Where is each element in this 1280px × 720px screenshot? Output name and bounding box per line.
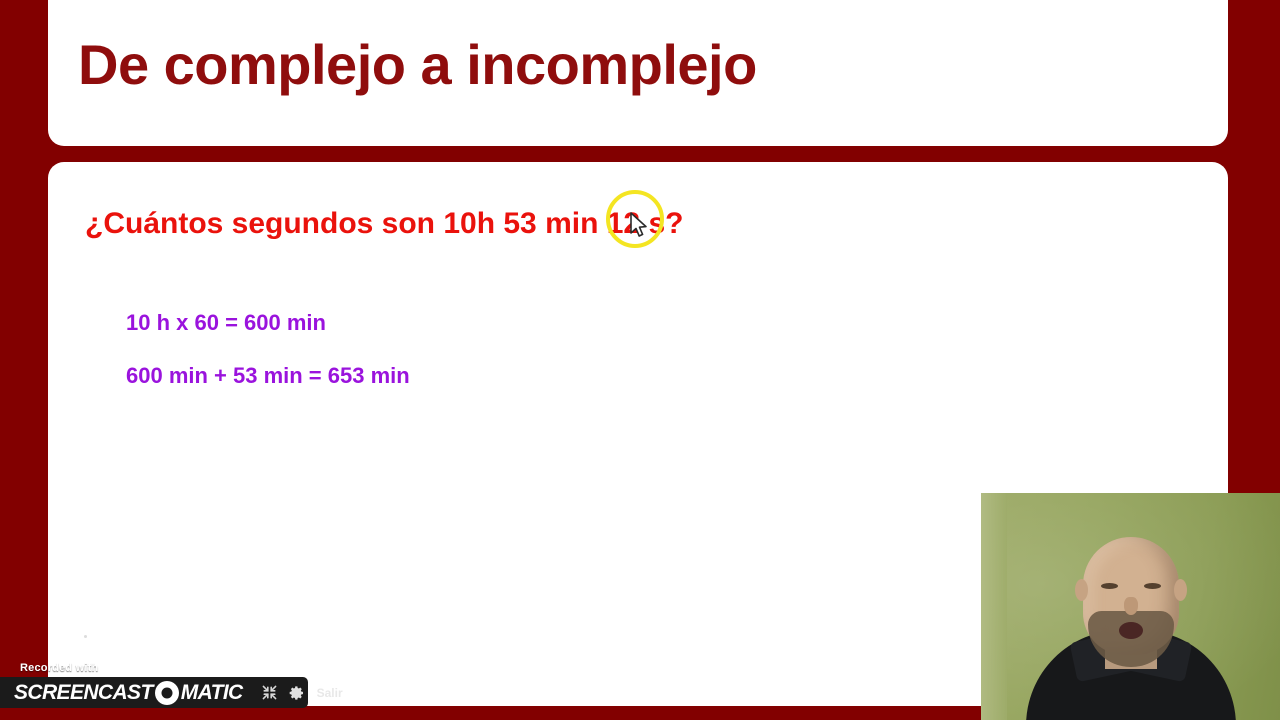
webcam-wall-edge: [981, 493, 1007, 720]
collapse-button[interactable]: [262, 685, 277, 700]
webcam-overlay: [981, 493, 1280, 720]
mouse-pointer-icon: [630, 212, 648, 238]
screencast-o-matic-toolbar[interactable]: SCREENCAST MATIC: [0, 677, 308, 708]
page-title: De complejo a incomplejo: [78, 32, 757, 97]
record-target-icon: [155, 681, 179, 705]
presenter-ear-right: [1174, 579, 1187, 601]
presenter-eye-right: [1144, 583, 1161, 589]
screencast-o-matic-logo: SCREENCAST MATIC: [14, 681, 243, 705]
logo-word-screencast: SCREENCAST: [14, 681, 153, 705]
presenter-mouth: [1119, 622, 1143, 639]
settings-button[interactable]: [289, 685, 305, 701]
presenter-eye-left: [1101, 583, 1118, 589]
calculation-line-1: 10 h x 60 = 600 min: [126, 310, 326, 336]
slide-title-panel: De complejo a incomplejo: [48, 0, 1228, 146]
faint-artifact-mark: [84, 635, 87, 638]
recorded-with-label: Recorded with: [20, 662, 98, 674]
exit-button-label: Salir: [317, 686, 343, 700]
exit-button[interactable]: Salir: [317, 686, 343, 700]
presentation-slide: De complejo a incomplejo ¿Cuántos segund…: [0, 0, 1280, 720]
collapse-arrows-icon: [262, 685, 277, 700]
gear-icon: [289, 685, 305, 701]
calculation-line-2: 600 min + 53 min = 653 min: [126, 363, 410, 389]
question-text: ¿Cuántos segundos son 10h 53 min 12 s?: [85, 207, 683, 241]
presenter-ear-left: [1075, 579, 1088, 601]
presenter-nose: [1124, 597, 1138, 615]
logo-word-matic: MATIC: [181, 681, 243, 705]
